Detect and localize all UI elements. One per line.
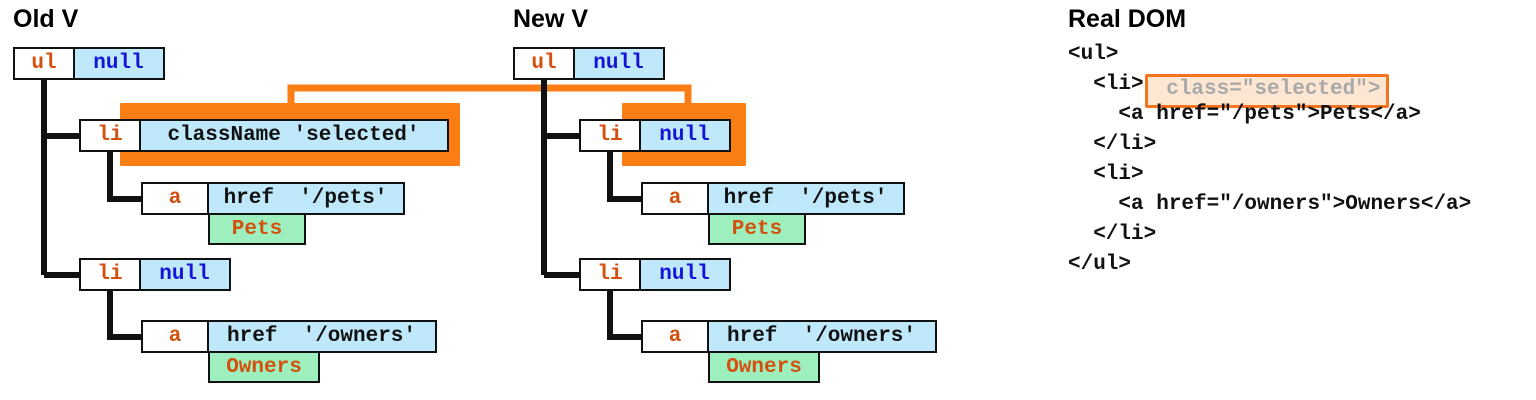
real-dom-code-line: </ul> <box>1068 250 1471 280</box>
old-node-a-pets-textnode: Pets <box>208 213 306 245</box>
new-node-a-pets-tag: a <box>641 182 709 215</box>
old-node-a-owners-value: href '/owners' <box>207 320 437 353</box>
diff-bracket-path <box>291 88 688 104</box>
old-node-ul-tag: ul <box>13 47 75 80</box>
real-dom-code-text: <li> <box>1068 163 1144 186</box>
real-dom-code-text: <ul> <box>1068 43 1118 66</box>
panel-title-old-v: Old V <box>13 5 78 33</box>
real-dom-code-block: <ul> <li> class="selected"> <a href="/pe… <box>1068 40 1471 280</box>
real-dom-code-line: <a href="/pets">Pets</a> <box>1068 100 1471 130</box>
old-node-a-pets-tag: a <box>141 182 209 215</box>
new-node-a-pets-textnode: Pets <box>708 213 806 245</box>
old-node-ul-value: null <box>73 47 165 80</box>
old-node-li-pets[interactable]: li className 'selected' <box>79 119 449 152</box>
real-dom-code-line: <ul> <box>1068 40 1471 70</box>
panel-title-real-dom: Real DOM <box>1068 5 1186 33</box>
real-dom-code-text: <li> <box>1068 73 1144 96</box>
old-node-ul[interactable]: ul null <box>13 47 165 80</box>
real-dom-code-text: <a href="/owners">Owners</a> <box>1068 193 1471 216</box>
new-node-a-owners[interactable]: a href '/owners' <box>641 320 937 353</box>
real-dom-code-text: </ul> <box>1068 253 1131 276</box>
real-dom-code-line: </li> <box>1068 220 1471 250</box>
new-node-li-owners-value: null <box>639 258 731 291</box>
new-li-pets-to-a <box>610 150 643 199</box>
new-node-a-pets[interactable]: a href '/pets' <box>641 182 905 215</box>
old-node-a-owners-tag: a <box>141 320 209 353</box>
old-node-li-pets-value: className 'selected' <box>139 119 449 152</box>
new-node-ul-tag: ul <box>513 47 575 80</box>
diagram-canvas: Old V New V Real DOM ul null li classNam… <box>0 0 1536 400</box>
new-li-owners-to-a <box>610 289 643 337</box>
old-node-li-pets-tag: li <box>79 119 141 152</box>
new-node-li-owners[interactable]: li null <box>579 258 731 291</box>
old-node-a-pets[interactable]: a href '/pets' <box>141 182 405 215</box>
new-node-a-owners-textnode: Owners <box>708 351 820 383</box>
new-node-a-owners-tag: a <box>641 320 709 353</box>
old-node-li-owners[interactable]: li null <box>79 258 231 291</box>
old-node-a-owners[interactable]: a href '/owners' <box>141 320 437 353</box>
real-dom-code-text: <a href="/pets">Pets</a> <box>1068 103 1421 126</box>
real-dom-code-line: </li> <box>1068 130 1471 160</box>
panel-title-new-v: New V <box>513 5 588 33</box>
old-node-a-owners-textnode: Owners <box>208 351 320 383</box>
new-node-ul[interactable]: ul null <box>513 47 665 80</box>
new-node-li-pets[interactable]: li null <box>579 119 731 152</box>
real-dom-code-text: </li> <box>1068 223 1156 246</box>
old-li-owners-to-a <box>110 289 143 337</box>
new-node-ul-value: null <box>573 47 665 80</box>
old-li-pets-to-a <box>110 150 143 199</box>
new-node-li-pets-tag: li <box>579 119 641 152</box>
real-dom-code-line: <a href="/owners">Owners</a> <box>1068 190 1471 220</box>
new-node-a-pets-value: href '/pets' <box>707 182 905 215</box>
real-dom-code-line: <li> <box>1068 160 1471 190</box>
new-node-li-owners-tag: li <box>579 258 641 291</box>
old-node-li-owners-tag: li <box>79 258 141 291</box>
new-node-li-pets-value: null <box>639 119 731 152</box>
real-dom-code-line: <li> class="selected"> <box>1068 70 1471 100</box>
old-node-li-owners-value: null <box>139 258 231 291</box>
real-dom-code-text: </li> <box>1068 133 1156 156</box>
old-node-a-pets-value: href '/pets' <box>207 182 405 215</box>
new-node-a-owners-value: href '/owners' <box>707 320 937 353</box>
